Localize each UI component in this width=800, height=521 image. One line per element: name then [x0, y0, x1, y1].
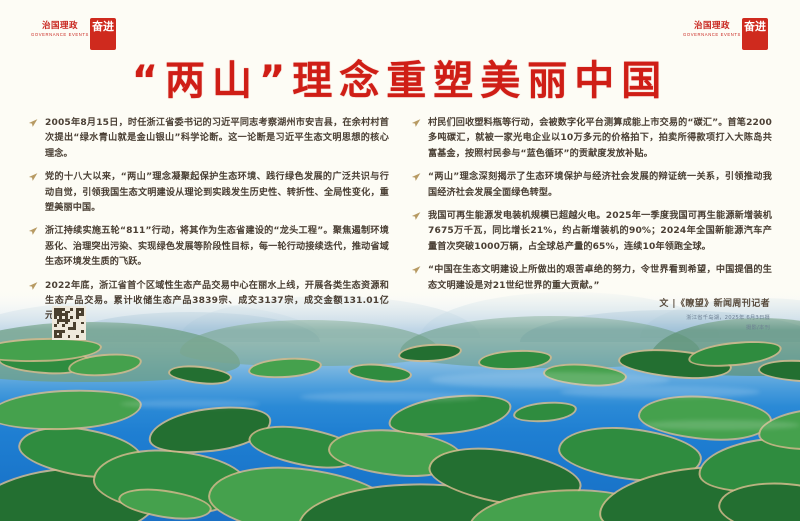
arrow-marker-icon — [28, 279, 38, 325]
bullet-item: 2005年8月15日，时任浙江省委书记的习近平同志考察湖州市安吉县，在余村村首次… — [28, 116, 389, 162]
water-sheen — [640, 420, 800, 430]
logo-governance-events-right: 治国理政 GOVERNANCE EVENTS 奋进 — [682, 18, 770, 52]
bullet-item: “两山”理念深刻揭示了生态环境保护与经济社会发展的辩证统一关系，引领推动我国经济… — [411, 170, 772, 201]
bullet-text: “两山”理念深刻揭示了生态环境保护与经济社会发展的辩证统一关系，引领推动我国经济… — [428, 170, 772, 201]
logo-seal-stamp: 奋进 — [90, 18, 116, 50]
qr-module — [81, 335, 84, 338]
bullet-text: “中国在生态文明建设上所做出的艰苦卓绝的努力，令世界看到希望，中国提倡的生态文明… — [428, 263, 772, 294]
bullet-text: 村民们回收塑料瓶等行动，会被数字化平台测算成能上市交易的“碳汇”。首笔2200多… — [428, 116, 772, 162]
byline: 文 |《瞭望》新闻周刊记者 — [659, 296, 770, 309]
logo-chinese-label: 治国理政 — [30, 21, 90, 31]
caption-line-2: 6月3日摄 — [746, 315, 770, 321]
arrow-marker-icon — [411, 170, 421, 201]
poster-page: 治国理政 GOVERNANCE EVENTS 奋进 治国理政 GOVERNANC… — [0, 0, 800, 521]
bullet-text: 浙江持续实施五轮“811”行动，将其作为生态省建设的“龙头工程”。聚焦遏制环境恶… — [45, 224, 389, 270]
bullet-text: 2005年8月15日，时任浙江省委书记的习近平同志考察湖州市安吉县，在余村村首次… — [45, 116, 389, 162]
caption-line-1: 浙江省千岛湖，2025年 — [686, 315, 744, 321]
bullet-item: 我国可再生能源发电装机规模已超越火电。2025年一季度我国可再生能源新增装机76… — [411, 209, 772, 255]
arrow-marker-icon — [411, 116, 421, 162]
column-left: 2005年8月15日，时任浙江省委书记的习近平同志考察湖州市安吉县，在余村村首次… — [28, 116, 389, 333]
logo-governance-events-left: 治国理政 GOVERNANCE EVENTS 奋进 — [30, 18, 118, 52]
photo-caption: 浙江省千岛湖，2025年 6月3日摄 摄影/本刊 — [620, 314, 770, 333]
logo-text-block: 治国理政 GOVERNANCE EVENTS — [682, 21, 742, 38]
arrow-marker-icon — [411, 209, 421, 255]
arrow-marker-icon — [28, 116, 38, 162]
qr-code[interactable] — [52, 306, 86, 340]
logo-chinese-label: 治国理政 — [682, 21, 742, 31]
bullet-text: 2022年底，浙江省首个区域性生态产品交易中心在丽水上线，开展各类生态资源和生态… — [45, 279, 389, 325]
arrow-marker-icon — [28, 224, 38, 270]
arrow-marker-icon — [411, 263, 421, 294]
qr-code-matrix — [54, 308, 84, 338]
logo-text-block: 治国理政 GOVERNANCE EVENTS — [30, 21, 90, 38]
water-sheen — [560, 386, 760, 398]
logo-seal-stamp: 奋进 — [742, 18, 768, 50]
bullet-item: 党的十八大以来，“两山”理念凝聚起保护生态环境、践行绿色发展的广泛共识与行动自觉… — [28, 170, 389, 216]
page-title: “两山”理念重塑美丽中国 — [0, 56, 800, 106]
logo-english-label: GOVERNANCE EVENTS — [682, 32, 742, 38]
bullet-item: 浙江持续实施五轮“811”行动，将其作为生态省建设的“龙头工程”。聚焦遏制环境恶… — [28, 224, 389, 270]
bullet-item: 村民们回收塑料瓶等行动，会被数字化平台测算成能上市交易的“碳汇”。首笔2200多… — [411, 116, 772, 162]
water-sheen — [120, 400, 260, 408]
caption-photo-credit: 摄影/本刊 — [620, 324, 770, 333]
logo-english-label: GOVERNANCE EVENTS — [30, 32, 90, 38]
bullet-item: “中国在生态文明建设上所做出的艰苦卓绝的努力，令世界看到希望，中国提倡的生态文明… — [411, 263, 772, 294]
arrow-marker-icon — [28, 170, 38, 216]
bullet-text: 我国可再生能源发电装机规模已超越火电。2025年一季度我国可再生能源新增装机76… — [428, 209, 772, 255]
water-sheen — [300, 392, 480, 402]
bullet-text: 党的十八大以来，“两山”理念凝聚起保护生态环境、践行绿色发展的广泛共识与行动自觉… — [45, 170, 389, 216]
